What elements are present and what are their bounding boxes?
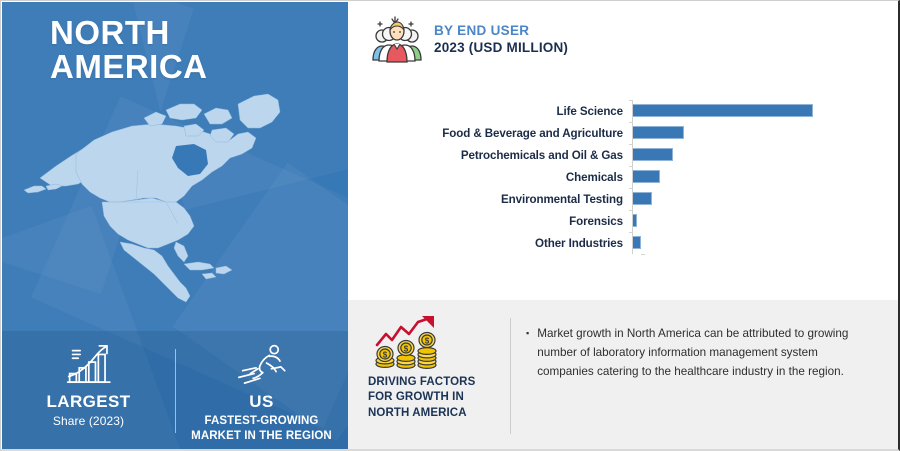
infographic-frame: NORTH AMERICA — [0, 0, 900, 451]
stat-sub: Share (2023) — [53, 414, 124, 430]
chart-subtitle: 2023 (USD MILLION) — [434, 40, 568, 57]
bar-row: Life Science — [348, 100, 898, 122]
region-title-line1: NORTH — [50, 16, 208, 50]
bar — [633, 104, 813, 117]
drivers-divider — [510, 318, 511, 434]
bar-track — [632, 100, 898, 122]
bar-label: Forensics — [348, 215, 632, 228]
drivers-title-line2: FOR GROWTH IN — [368, 390, 488, 405]
axis-end-tick — [641, 254, 645, 255]
stat-sub-line2: MARKET IN THE REGION — [191, 429, 332, 444]
bar — [633, 214, 637, 227]
bar-label: Other Industries — [348, 237, 632, 250]
drivers-bullet-list: ▪ Market growth in North America can be … — [526, 325, 876, 382]
bar — [633, 126, 684, 139]
drivers-title-line3: NORTH AMERICA — [368, 406, 488, 421]
bar-row: Chemicals — [348, 166, 898, 188]
bar — [633, 192, 652, 205]
bar-label: Chemicals — [348, 171, 632, 184]
drivers-title-line1: DRIVING FACTORS — [368, 375, 488, 390]
bullet-marker-icon: ▪ — [526, 325, 529, 382]
region-title: NORTH AMERICA — [50, 16, 208, 85]
region-title-line2: AMERICA — [50, 50, 208, 84]
chart-header: BY END USER 2023 (USD MILLION) — [370, 13, 568, 65]
bar-row: Forensics — [348, 210, 898, 232]
group-of-people-icon — [370, 13, 424, 65]
bar-track — [632, 210, 898, 232]
region-panel: NORTH AMERICA — [2, 2, 348, 449]
bar-row: Other Industries — [348, 232, 898, 254]
coins-growth-arrow-icon: $ $ — [372, 314, 442, 370]
bar-row: Environmental Testing — [348, 188, 898, 210]
bar-track — [632, 144, 898, 166]
stat-sub-line1: FASTEST-GROWING — [205, 414, 319, 429]
bar-row: Petrochemicals and Oil & Gas — [348, 144, 898, 166]
svg-text:$: $ — [383, 351, 388, 360]
bar-label: Petrochemicals and Oil & Gas — [348, 149, 632, 162]
bar — [633, 236, 641, 249]
stat-fastest-growing: US FASTEST-GROWING MARKET IN THE REGION — [175, 331, 348, 449]
drivers-title: DRIVING FACTORS FOR GROWTH IN NORTH AMER… — [368, 375, 488, 421]
bar-label: Environmental Testing — [348, 193, 632, 206]
stats-divider — [175, 349, 176, 433]
svg-text:$: $ — [425, 337, 430, 346]
drivers-left: $ $ — [366, 314, 488, 421]
svg-text:$: $ — [404, 345, 409, 354]
bar-track — [632, 188, 898, 210]
bar-label: Food & Beverage and Agriculture — [348, 127, 632, 140]
bar-label: Life Science — [348, 105, 632, 118]
chart-header-text: BY END USER 2023 (USD MILLION) — [434, 21, 568, 57]
north-america-map-icon — [16, 74, 336, 329]
chart-title: BY END USER — [434, 23, 568, 40]
bar-row: Food & Beverage and Agriculture — [348, 122, 898, 144]
stat-largest-share: LARGEST Share (2023) — [2, 331, 175, 449]
bar-chart-plot: Life Science Food & Beverage and Agricul… — [348, 100, 898, 278]
drivers-section: $ $ — [348, 300, 898, 449]
bar-track — [632, 232, 898, 254]
running-person-icon — [235, 342, 289, 386]
bar — [633, 170, 660, 183]
bar-track — [632, 122, 898, 144]
bar — [633, 148, 673, 161]
stat-headline: LARGEST — [46, 392, 130, 412]
stat-headline: US — [249, 392, 273, 412]
bar-track — [632, 166, 898, 188]
growth-bar-chart-icon — [62, 342, 116, 386]
chart-section: BY END USER 2023 (USD MILLION) Life Scie… — [348, 2, 898, 300]
region-stats-strip: LARGEST Share (2023) — [2, 331, 348, 449]
bullet-text: Market growth in North America can be at… — [537, 325, 876, 382]
